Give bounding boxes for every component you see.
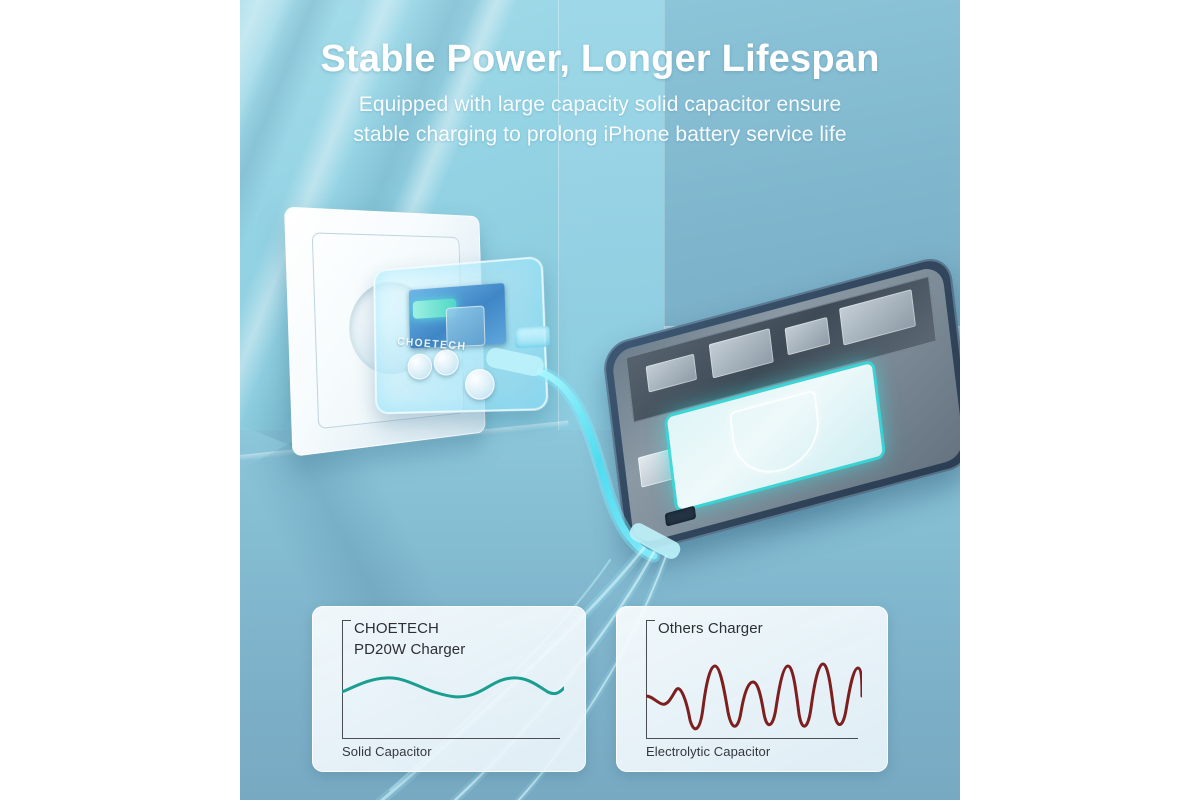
waveform-electrolytic-capacitor bbox=[646, 646, 862, 738]
shield-emblem bbox=[730, 389, 824, 482]
chip-4 bbox=[839, 288, 917, 345]
choetech-charger: CHOETECH bbox=[373, 256, 548, 415]
product-marketing-image: CHOETECH bbox=[0, 0, 1200, 800]
card-title-others: Others Charger bbox=[658, 618, 763, 639]
card-footer-choetech: Solid Capacitor bbox=[342, 744, 432, 759]
comparison-cards: CHOETECH PD20W Charger Solid Capacitor O… bbox=[312, 606, 888, 772]
comparison-card-others: Others Charger Electrolytic Capacitor bbox=[616, 606, 888, 772]
usb-c-port bbox=[515, 326, 550, 348]
comparison-card-choetech: CHOETECH PD20W Charger Solid Capacitor bbox=[312, 606, 586, 772]
chip-3 bbox=[785, 317, 831, 356]
chip-1 bbox=[645, 354, 697, 393]
x-axis-others bbox=[646, 738, 858, 739]
card-footer-others: Electrolytic Capacitor bbox=[646, 744, 770, 759]
x-axis-choetech bbox=[342, 738, 560, 739]
chip-2 bbox=[708, 328, 773, 378]
waveform-solid-capacitor bbox=[342, 646, 564, 738]
photo-scene: CHOETECH bbox=[240, 0, 960, 800]
lightning-port bbox=[665, 506, 696, 527]
